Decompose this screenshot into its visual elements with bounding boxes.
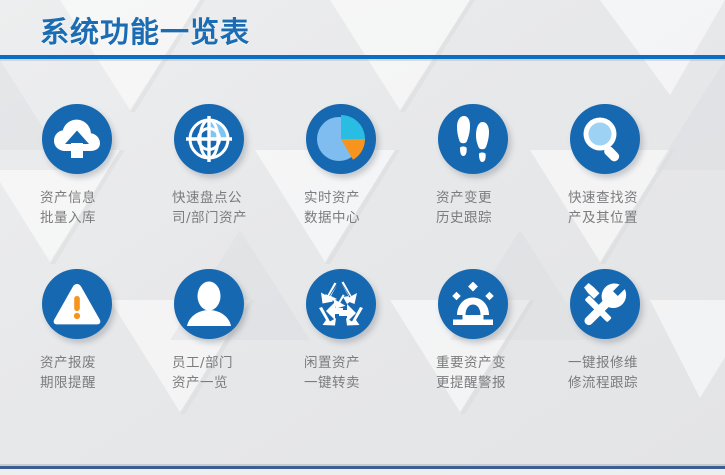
feature-grid: 资产信息 批量入库 [0, 62, 725, 452]
pie-chart-icon[interactable] [306, 104, 376, 174]
feature-label: 资产信息 批量入库 [40, 188, 166, 228]
wrench-screwdriver-icon[interactable] [570, 269, 640, 339]
feature-label: 快速盘点公 司/部门资产 [172, 188, 298, 228]
feature-label: 员工/部门 资产一览 [172, 353, 298, 393]
feature-item-employee-assets[interactable]: 员工/部门 资产一览 [168, 269, 300, 434]
user-person-icon[interactable] [174, 269, 244, 339]
feature-item-change-history[interactable]: 资产变更 历史跟踪 [432, 104, 564, 269]
feature-item-realtime-data[interactable]: 实时资产 数据中心 [300, 104, 432, 269]
feature-label: 实时资产 数据中心 [304, 188, 430, 228]
feature-item-idle-resale[interactable]: 闲置资产 一键转卖 [300, 269, 432, 434]
feature-label: 闲置资产 一键转卖 [304, 353, 430, 393]
page-title: 系统功能一览表 [40, 13, 250, 51]
target-crosshair-icon[interactable] [174, 104, 244, 174]
feature-label: 资产变更 历史跟踪 [436, 188, 562, 228]
feature-row-2: 资产报废 期限提醒 员工/部门 资产一览 [0, 269, 725, 434]
feature-label: 重要资产变 更提醒警报 [436, 353, 562, 393]
feature-row-1: 资产信息 批量入库 [0, 104, 725, 269]
recycle-icon[interactable] [306, 269, 376, 339]
warning-triangle-icon[interactable] [42, 269, 112, 339]
feature-label: 一键报修维 修流程跟踪 [568, 353, 694, 393]
feature-label: 资产报废 期限提醒 [40, 353, 166, 393]
feature-overview-page: 系统功能一览表 资产信息 批量入库 [0, 0, 725, 475]
feature-item-asset-import[interactable]: 资产信息 批量入库 [36, 104, 168, 269]
page-header: 系统功能一览表 [0, 0, 725, 59]
alarm-siren-icon[interactable] [438, 269, 508, 339]
magnifier-search-icon[interactable] [570, 104, 640, 174]
feature-item-quick-search[interactable]: 快速查找资 产及其位置 [564, 104, 696, 269]
feature-item-quick-inventory[interactable]: 快速盘点公 司/部门资产 [168, 104, 300, 269]
feature-label: 快速查找资 产及其位置 [568, 188, 694, 228]
footer-strip [0, 469, 725, 475]
cloud-upload-icon[interactable] [42, 104, 112, 174]
footprints-icon[interactable] [438, 104, 508, 174]
feature-item-disposal-reminder[interactable]: 资产报废 期限提醒 [36, 269, 168, 434]
feature-item-repair-request[interactable]: 一键报修维 修流程跟踪 [564, 269, 696, 434]
feature-item-important-alert[interactable]: 重要资产变 更提醒警报 [432, 269, 564, 434]
header-rule-shadow [0, 59, 725, 61]
